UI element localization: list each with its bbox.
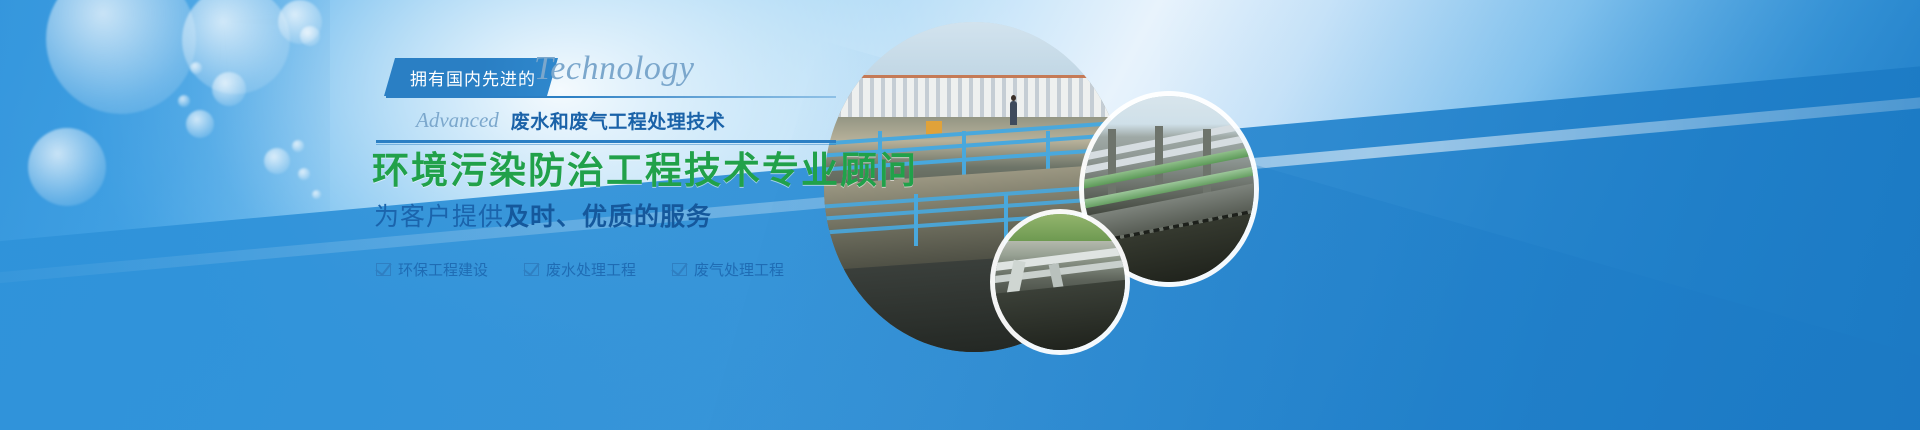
divider-middle [376,140,836,143]
feature-label: 废水处理工程 [546,259,636,280]
check-icon [376,263,391,276]
badge-label: 拥有国内先进的 [384,58,558,96]
list-item: 废水处理工程 [524,259,636,280]
page-title: 环境污染防治工程技术专业顾问 [372,151,836,191]
subtitle-chinese: 废水和废气工程处理技术 [511,107,726,134]
promotional-banner: 拥有国内先进的 Technology Advanced 废水和废气工程处理技术 … [0,0,1920,430]
photo-collage [0,0,1920,430]
check-icon [672,263,687,276]
subtitle-row: Advanced 废水和废气工程处理技术 [366,102,836,138]
check-icon [524,263,539,276]
feature-label: 环保工程建设 [398,259,488,280]
tagline: 为客户提供及时、优质的服务 [374,197,836,233]
list-item: 废气处理工程 [672,259,784,280]
feature-list: 环保工程建设 废水处理工程 废气处理工程 [376,259,836,280]
feature-label: 废气处理工程 [694,259,784,280]
sedimentation-tank-photo [995,214,1125,350]
list-item: 环保工程建设 [376,259,488,280]
tagline-emphasis: 及时、优质的服务 [504,203,712,231]
divider-top [386,96,836,98]
tagline-row: 拥有国内先进的 Technology [366,58,836,98]
banner-text-block: 拥有国内先进的 Technology Advanced 废水和废气工程处理技术 … [366,58,836,280]
tagline-plain: 为客户提供 [374,203,504,231]
script-technology: Technology [534,50,695,88]
script-advanced: Advanced [416,108,499,133]
